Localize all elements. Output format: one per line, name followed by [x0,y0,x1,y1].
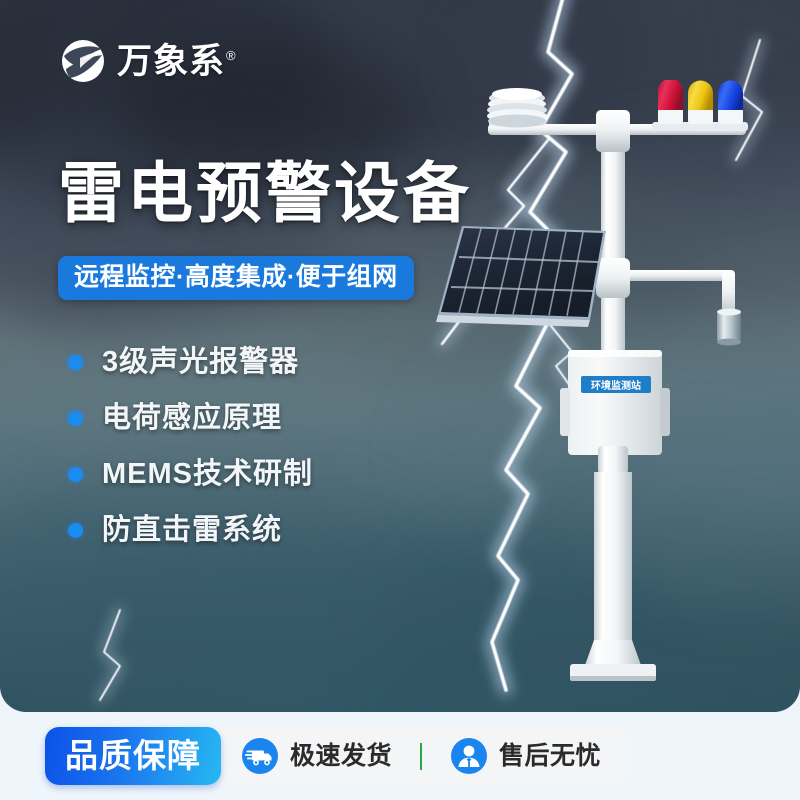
feature-label: MEMS技术研制 [102,460,313,489]
brand-name-wrap: 万象系® [117,44,237,79]
feature-item: MEMS技术研制 [68,460,313,489]
feature-label: 3级声光报警器 [102,348,299,377]
feature-item: 3级声光报警器 [68,348,313,377]
service-item-shipping: 极速发货 [241,737,392,775]
device-illustration: 环境监测站 [430,80,800,700]
page-title: 雷电预警设备 [58,160,472,226]
subtitle-badge: 远程监控·高度集成·便于组网 [58,256,414,300]
globe-swoosh-logo-icon [58,36,108,86]
registered-mark: ® [226,48,237,63]
bullet-dot-icon [68,411,83,426]
bullet-dot-icon [68,355,83,370]
bullet-dot-icon [68,523,83,538]
storm-background: 环境监测站 万象系® 雷电预警设备 [0,0,800,712]
yellow-alarm-beacon [688,81,713,125]
base-flare [584,640,642,668]
base-plate-shadow [570,676,656,681]
lower-mast [594,472,632,668]
alarm-beacon-group [652,80,748,131]
sensor-mount-arm [616,270,734,281]
bullet-dot-icon [68,467,83,482]
blue-alarm-beacon [718,81,743,125]
feature-label: 防直击雷系统 [102,516,282,545]
electric-field-sensor [717,270,741,346]
mid-hub-collar [596,258,630,298]
feature-list: 3级声光报警器 电荷感应原理 MEMS技术研制 防直击雷系统 [68,348,313,545]
delivery-truck-icon [241,737,279,775]
control-box: 环境监测站 [560,350,670,455]
service-divider [420,743,422,770]
lightning-warning-device: 环境监测站 [430,80,800,700]
control-box-label: 环境监测站 [591,379,641,392]
feature-item: 防直击雷系统 [68,516,313,545]
pole-joint-collar [598,446,628,474]
top-hub-collar [596,110,630,152]
solar-panel [436,226,606,327]
feature-item: 电荷感应原理 [68,404,313,433]
brand-name: 万象系 [117,42,225,81]
support-agent-icon [450,737,488,775]
brand-logo[interactable]: 万象系® [58,36,237,86]
quality-guarantee-badge: 品质保障 [45,727,221,785]
feature-label: 电荷感应原理 [102,404,282,433]
red-alarm-beacon [658,80,683,124]
service-item-aftersales: 售后无忧 [450,737,601,775]
radiation-shield-sensor [487,88,547,128]
service-label: 售后无忧 [499,744,601,769]
trust-bar: 品质保障 极速发货 [0,712,800,800]
service-label: 极速发货 [290,744,392,769]
product-poster: 环境监测站 万象系® 雷电预警设备 [0,0,800,800]
service-strip: 极速发货 售后无忧 [207,726,627,786]
